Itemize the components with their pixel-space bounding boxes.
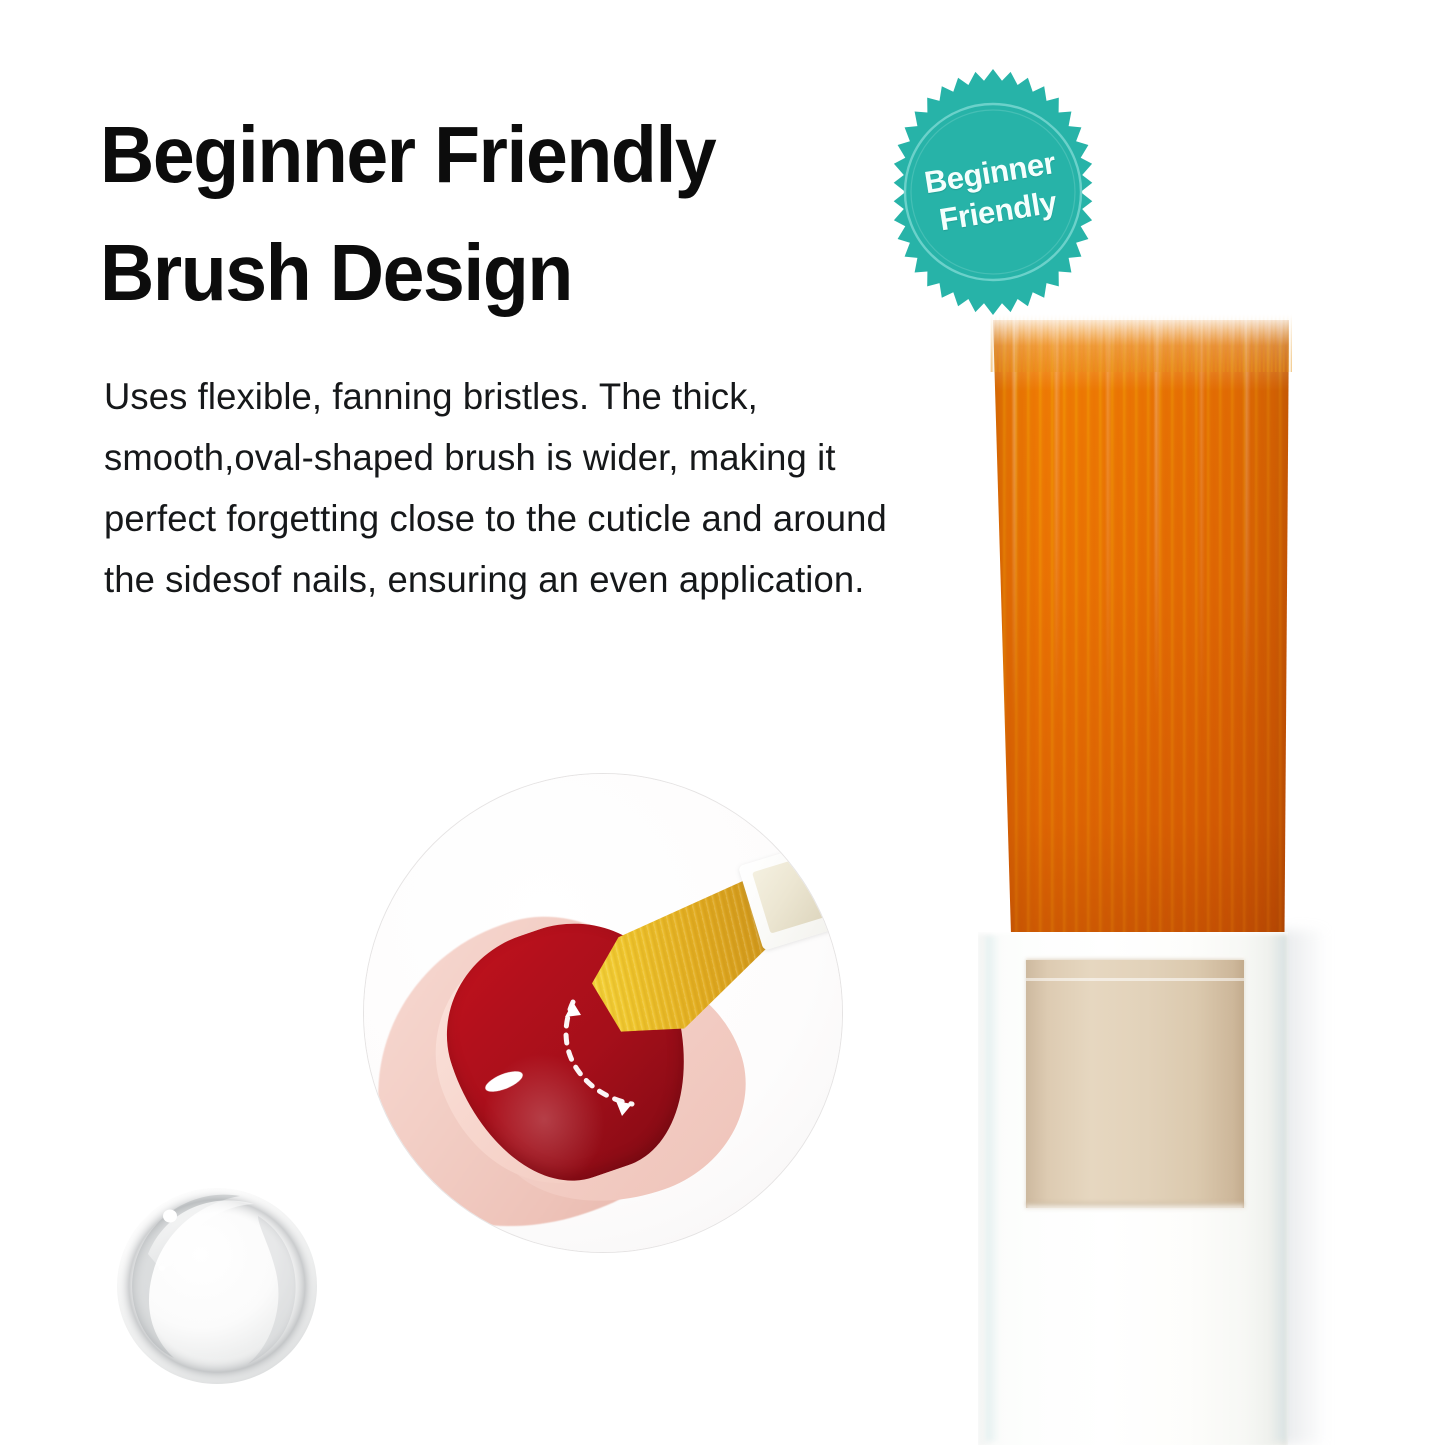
starburst-seal-icon [880,68,1106,316]
beginner-friendly-badge: Beginner Friendly [880,68,1106,316]
inset-application-photo [364,774,842,1252]
product-photo-brush [940,300,1360,1445]
water-droplet-graphic [108,1176,326,1394]
bristle-highlight-streaks [990,320,1292,720]
brush-ferrule [1026,960,1244,1208]
stroke-direction-arrow-icon [364,774,842,1252]
handle-right-gloss [1270,936,1286,1441]
handle-left-gloss [986,936,1000,1441]
droplet-icon [108,1176,326,1394]
bristle-tips [990,314,1292,372]
marketing-infographic-canvas: Beginner Friendly Brush Design Uses flex… [0,0,1445,1445]
description-paragraph: Uses flexible, fanning bristles. The thi… [104,366,892,610]
brush-bristles [990,320,1292,965]
ferrule-bottom-edge [1026,1202,1244,1210]
page-title: Beginner Friendly Brush Design [100,96,843,332]
